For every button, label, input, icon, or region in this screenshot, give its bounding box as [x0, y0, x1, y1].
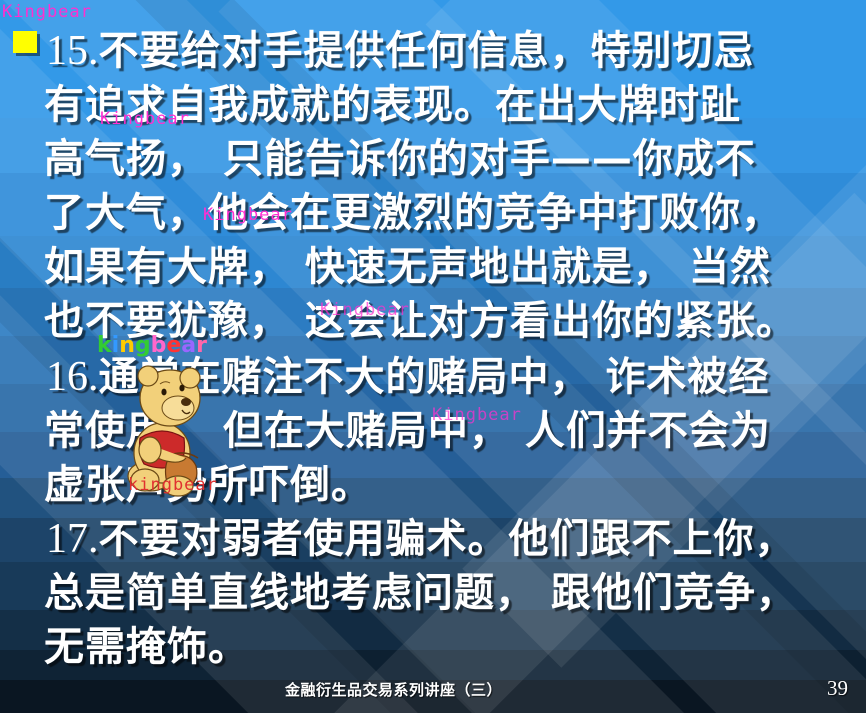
- body-line: 17.不要对弱者使用骗术。他们跟不上你，: [46, 506, 796, 564]
- body-line-text: 如果有大牌， 快速无声地出就是， 当然: [44, 244, 771, 290]
- watermark-kingbear: Kingbear: [320, 300, 410, 320]
- footer-title: 金融衍生品交易系列讲座（三）: [285, 679, 502, 700]
- page-number: 39: [827, 676, 848, 701]
- body-line-text: 高气扬， 只能告诉你的对手——你成不: [44, 136, 756, 182]
- body-line: 了大气，他会在更激烈的竞争中打败你，: [44, 180, 782, 238]
- watermark-kingbear-rainbow: kingbear: [97, 333, 207, 358]
- watermark-kingbear: Kingbear: [100, 109, 190, 129]
- body-line: 15.不要给对手提供任何信息，特别切忌: [46, 18, 755, 76]
- body-line: 如果有大牌， 快速无声地出就是， 当然: [44, 234, 771, 292]
- body-line: 无需掩饰。: [44, 614, 249, 672]
- body-line: 高气扬， 只能告诉你的对手——你成不: [44, 126, 756, 184]
- body-line-text: 总是简单直线地考虑问题， 跟他们竞争，: [44, 570, 797, 616]
- body-line: 总是简单直线地考虑问题， 跟他们竞争，: [44, 560, 797, 618]
- watermark-kingbear: Kingbear: [203, 205, 293, 225]
- list-number: 16.: [46, 354, 99, 400]
- watermark-kingbear: Kingbear: [2, 2, 92, 22]
- slide-canvas: 15.不要给对手提供任何信息，特别切忌 有追求自我成就的表现。在出大牌时趾 高气…: [0, 0, 866, 713]
- list-number: 17.: [46, 516, 99, 562]
- watermark-kingbear: kingbear: [128, 475, 218, 495]
- body-line-text: 了大气，他会在更激烈的竞争中打败你，: [44, 190, 782, 236]
- list-number: 15.: [46, 28, 99, 74]
- slide-footer: 金融衍生品交易系列讲座（三） 39: [0, 665, 866, 713]
- watermark-kingbear: Kingbear: [432, 405, 522, 425]
- bullet-square: [13, 31, 37, 53]
- body-line-text: 不要给对手提供任何信息，特别切忌: [99, 28, 755, 74]
- body-line-text: 无需掩饰。: [44, 624, 249, 670]
- body-line-text: 不要对弱者使用骗术。他们跟不上你，: [99, 516, 796, 562]
